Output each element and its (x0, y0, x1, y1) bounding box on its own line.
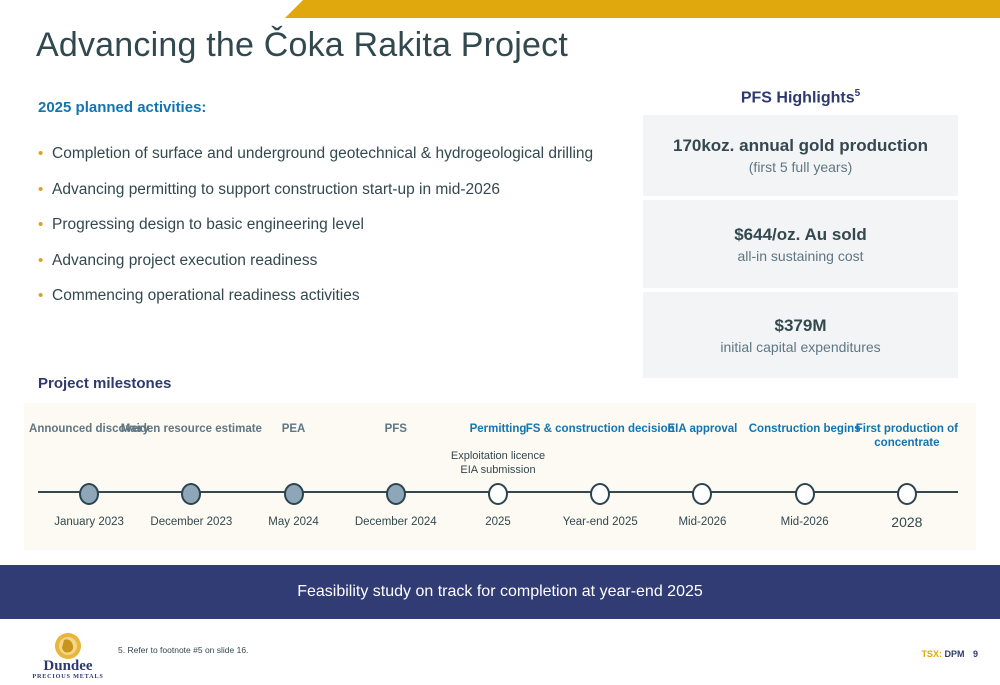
activity-bullet-item: •Commencing operational readiness activi… (38, 286, 648, 305)
milestone-node-icon[interactable] (284, 483, 304, 505)
bullet-dot-icon: • (38, 215, 52, 234)
activity-bullet-text: Advancing project execution readiness (52, 251, 317, 270)
dundee-logo: Dundee PRECIOUS METALS (28, 632, 108, 680)
milestone-date: 2028 (832, 515, 982, 530)
milestone-label: First production of concentrate (832, 422, 982, 450)
footnote-text: 5. Refer to footnote #5 on slide 16. (118, 645, 248, 655)
project-milestones-heading: Project milestones (38, 375, 171, 392)
pfs-card-sub: (first 5 full years) (749, 157, 852, 177)
ticker-exchange: TSX: (921, 649, 942, 659)
ticker-info: TSX: DPM 9 (921, 649, 978, 659)
pfs-card-sub: all-in sustaining cost (737, 246, 863, 266)
pfs-highlights-title-text: PFS Highlights (741, 89, 855, 106)
activity-bullet-text: Commencing operational readiness activit… (52, 286, 360, 305)
milestone-node-icon[interactable] (79, 483, 99, 505)
pfs-card-main: 170koz. annual gold production (673, 134, 928, 157)
pfs-highlight-card: 170koz. annual gold production (first 5 … (643, 115, 958, 196)
pfs-highlight-card: $379M initial capital expenditures (643, 292, 958, 378)
bottom-banner: Feasibility study on track for completio… (0, 565, 1000, 619)
svg-text:Dundee: Dundee (43, 658, 93, 674)
pfs-highlights-title: PFS Highlights5 (643, 88, 958, 107)
pfs-card-main: $644/oz. Au sold (734, 223, 867, 246)
svg-text:PRECIOUS METALS: PRECIOUS METALS (32, 673, 103, 680)
milestone-node-icon[interactable] (488, 483, 508, 505)
bullet-dot-icon: • (38, 144, 52, 163)
activity-bullet-text: Completion of surface and underground ge… (52, 144, 593, 163)
bottom-banner-text: Feasibility study on track for completio… (297, 583, 703, 601)
gold-accent-shape (285, 0, 1000, 18)
activity-bullet-item: •Progressing design to basic engineering… (38, 215, 648, 234)
milestone-node-icon[interactable] (897, 483, 917, 505)
bullet-dot-icon: • (38, 286, 52, 305)
pfs-highlights-footnote-marker: 5 (855, 88, 861, 99)
pfs-card-main: $379M (775, 314, 827, 337)
activity-bullet-text: Advancing permitting to support construc… (52, 180, 500, 199)
activities-list: •Completion of surface and underground g… (38, 144, 648, 322)
page-number: 9 (973, 649, 978, 659)
milestone-node-icon[interactable] (795, 483, 815, 505)
milestone-node-icon[interactable] (386, 483, 406, 505)
pfs-highlight-card: $644/oz. Au sold all-in sustaining cost (643, 200, 958, 288)
activity-bullet-text: Progressing design to basic engineering … (52, 215, 364, 234)
pfs-card-sub: initial capital expenditures (720, 337, 880, 357)
activities-heading: 2025 planned activities: (38, 99, 206, 116)
ticker-symbol: DPM (944, 649, 964, 659)
activity-bullet-item: •Advancing project execution readiness (38, 251, 648, 270)
activity-bullet-item: •Advancing permitting to support constru… (38, 180, 648, 199)
bullet-dot-icon: • (38, 180, 52, 199)
milestone-sublabel: Exploitation licenceEIA submission (423, 450, 573, 477)
bullet-dot-icon: • (38, 251, 52, 270)
page-title: Advancing the Čoka Rakita Project (36, 26, 568, 65)
top-accent-bar (0, 0, 1000, 18)
activity-bullet-item: •Completion of surface and underground g… (38, 144, 648, 163)
